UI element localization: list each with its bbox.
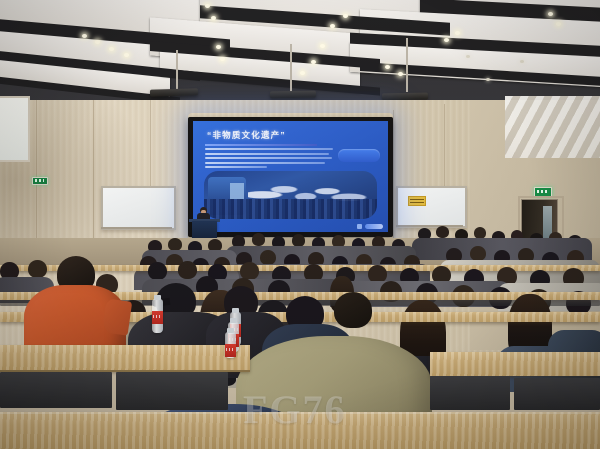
ceiling-spotlight [548,12,553,16]
ceiling-spotlight [216,45,221,49]
slide-photo [204,171,377,219]
whiteboard-left [101,186,176,230]
desk-front-panel [116,372,228,410]
water-bottle[interactable] [225,332,236,358]
ceiling-spotlight [205,4,210,8]
student-khaki-head [334,292,372,328]
ceiling-spotlight [466,55,470,58]
ceiling-light-bar [150,88,198,96]
ceiling-spotlight [211,16,216,20]
notice-card [408,196,426,206]
ceiling-spotlight [343,14,348,18]
ceiling-spotlight [320,44,325,48]
ceiling-spotlight [300,71,305,75]
slide-divider [205,144,317,146]
ceiling-spotlight [486,78,490,81]
whiteboard-right [396,186,467,228]
desk-front-panel [514,378,600,410]
slide-body-text [205,148,335,171]
exit-sign-icon [32,177,48,185]
ceiling-spotlight [95,40,100,44]
ceiling-spotlight [556,22,561,26]
ceiling-spotlight [444,38,449,42]
slide-logo-mark [357,224,362,229]
ceiling-spotlight [82,34,87,38]
ceiling-spotlight [455,31,460,35]
water-bottle[interactable] [152,299,163,333]
window [0,96,30,162]
ceiling-spotlight [330,24,335,28]
ceiling-spotlight [311,60,316,64]
ceiling-spotlight [385,65,390,69]
slide-page-indicator [365,224,383,229]
photo-scene: “非物质文化遗产” [0,0,600,449]
ceiling-spotlight [109,47,114,51]
acoustic-panel [505,96,600,158]
ceiling-spotlight [520,60,524,63]
ceiling-spotlight [124,53,129,57]
ceiling-spotlight [398,72,403,76]
desk-front-panel [0,372,112,408]
slide-accent-shape [338,149,380,162]
ceiling-light-bar [270,91,316,99]
desk-front-panel [430,376,510,410]
slide-title: “非物质文化遗产” [207,129,367,141]
ceiling-spotlight [220,57,225,61]
presentation-screen[interactable]: “非物质文化遗产” [193,121,388,232]
